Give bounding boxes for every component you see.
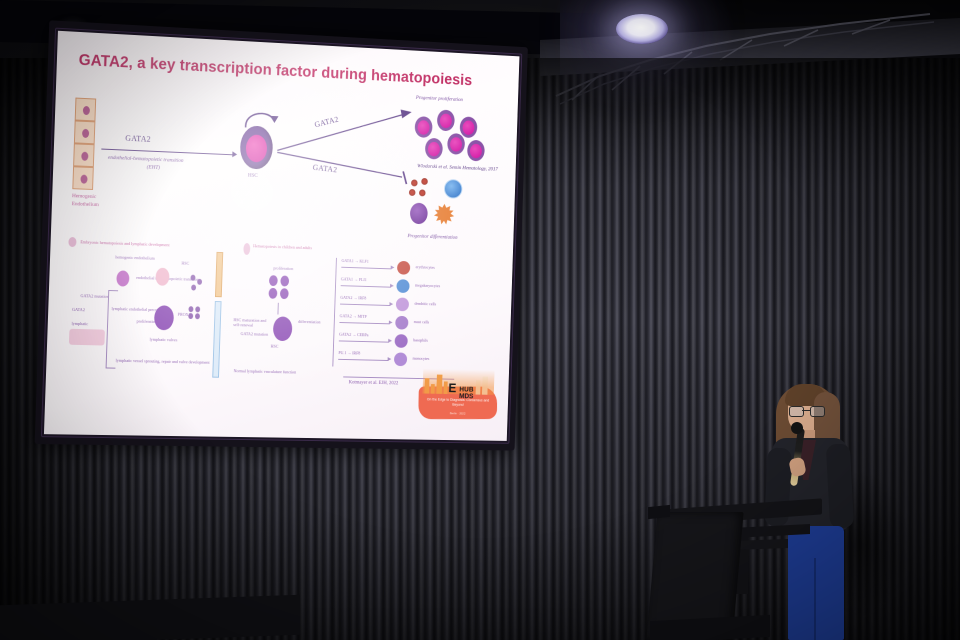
hemogenic-endothelium-cell-icon: [116, 270, 129, 286]
lineage-cell-icon: [394, 352, 407, 366]
lineage-factors: GATA1 → KLF1: [341, 258, 368, 264]
lineage-cell-icon: [395, 316, 408, 330]
progenitor-cell-icon: [460, 116, 478, 138]
lineage-arrow: [339, 340, 389, 342]
lymphatic-vasculature-divider: [212, 301, 221, 378]
progenitor-cell-icon: [437, 109, 455, 131]
eht-caption-line2: (EHT): [147, 164, 160, 170]
erythrocyte-icon: [411, 179, 418, 186]
progenitor-dot-icon: [280, 276, 289, 287]
lineage-factors: GATA2 → CEBPa: [339, 332, 369, 338]
lineage-cell-icon: [395, 334, 408, 348]
endothelium-label-line1: Hemogenic: [72, 193, 96, 200]
hsc-label: HSC: [248, 173, 258, 179]
progenitor-cell-icon: [425, 138, 443, 160]
lineage-arrow-head-icon: [388, 339, 392, 343]
endothelium-label-line2: Endothelium: [72, 201, 99, 208]
lower-left-label: lymphatic vessel sprouting, repair and v…: [116, 358, 223, 366]
lower-left-label: hemogenic endothelium: [115, 254, 155, 260]
progenitor-cell-icon: [414, 116, 432, 138]
lower-left-label: HSC: [181, 261, 189, 266]
lectern-edge: [648, 505, 670, 519]
differentiated-cell-cluster: [408, 177, 510, 235]
progenitor-differentiation-label: Progenitor differentiation: [407, 233, 457, 241]
presentation-scene: GATA2, a key transcription factor during…: [0, 0, 960, 640]
progenitor-dot-icon: [269, 275, 278, 286]
lymphocyte-icon: [444, 179, 463, 199]
erythrocyte-icon: [409, 189, 416, 196]
progenitor-cell-icon: [467, 140, 485, 162]
lineage-arrow: [341, 267, 391, 269]
lower-left-label: GATA2: [72, 307, 85, 313]
lower-right-label: differentiation: [298, 319, 321, 325]
glasses-lens-left: [789, 406, 804, 417]
fetal-hematopoiesis-divider: [215, 252, 223, 297]
lymphatic-precursor-icon: [154, 305, 174, 330]
granulocyte-icon: [434, 203, 455, 225]
lineage-factors: GATA2 → MITF: [340, 313, 367, 319]
glasses-lens-right: [810, 406, 825, 417]
embryo-icon: [68, 237, 76, 247]
speaker-glasses-icon: [789, 406, 823, 415]
lineage-arrow: [339, 322, 389, 324]
lineage-cell-label: mast cells: [414, 319, 429, 324]
lymphatic-vessel-icon: [69, 329, 105, 346]
lower-left-label: lymphatic valves: [150, 337, 178, 343]
lower-right-label: GATA2 mutation: [241, 331, 269, 337]
lower-right-label: Normal lymphatic vasculature function: [233, 368, 337, 375]
lineage-cell-label: megakaryocytes: [415, 283, 440, 289]
logo-letter: E: [448, 382, 456, 395]
lower-right-label: HSC: [271, 344, 279, 349]
glasses-bridge: [802, 410, 810, 411]
eht-arrow-label: GATA2: [125, 134, 151, 144]
progenitor-dot-icon: [280, 288, 289, 299]
projection-screen-frame: GATA2, a key transcription factor during…: [35, 20, 528, 450]
endothelial-cell-icon: [74, 120, 96, 144]
screen-bezel: GATA2, a key transcription factor during…: [41, 28, 522, 444]
endothelial-cell-icon: [73, 143, 95, 167]
lineage-cell-label: basophils: [413, 337, 428, 342]
ceiling-spotlight-icon: [616, 14, 668, 44]
hsc-dot-icon: [197, 279, 202, 285]
cell-dot-icon: [195, 313, 200, 319]
monocyte-icon: [410, 203, 428, 225]
lineage-arrow-head-icon: [389, 302, 393, 306]
progenitor-proliferation-label: Progenitor proliferation: [416, 95, 463, 103]
upper-diagram: Hemogenic Endothelium GATA2 endothelial-…: [51, 75, 518, 249]
hsc-cell-icon: [240, 125, 274, 169]
endothelial-cell-icon: [75, 98, 97, 122]
logo-tagline: On the Edge to Diagnosis: Consensus and …: [426, 398, 490, 408]
lineage-arrow: [338, 359, 388, 361]
progenitor-cell-icon: [447, 133, 465, 155]
hemogenic-endothelium-stack: [72, 98, 96, 190]
lineage-arrow-head-icon: [389, 320, 393, 324]
hsc-dot-icon: [191, 285, 196, 291]
eht-arrow-head-icon: [232, 151, 237, 157]
erythrocyte-icon: [421, 178, 428, 185]
lower-left-label: lymphatic: [72, 321, 89, 327]
lower-left-title: Embryonic hematopoiesis and lymphatic de…: [80, 239, 226, 249]
eht-caption-line1: endothelial-hematopoietic transition: [108, 155, 184, 164]
erythrocyte-icon: [419, 189, 426, 196]
hsc-cell-icon: [273, 316, 293, 341]
lineage-cell-icon: [396, 297, 409, 311]
lower-citation: Kotmayer et al. EJH, 2022: [349, 380, 399, 387]
lineage-cell-icon: [396, 279, 409, 293]
branch-arrows: [270, 99, 423, 206]
lower-right-title: Hematopoiesis in children and adults: [253, 243, 376, 252]
cell-dot-icon: [188, 313, 193, 319]
lower-right-label: HSC maturation and self-renewal: [233, 317, 271, 328]
presentation-slide: GATA2, a key transcription factor during…: [44, 31, 520, 441]
projection-screen-area: GATA2, a key transcription factor during…: [28, 4, 548, 454]
microphone-head-icon: [791, 422, 803, 434]
lineage-cell-label: monocytes: [413, 356, 430, 361]
lineage-arrow-head-icon: [391, 265, 395, 269]
lower-right-label: proliferation: [273, 266, 293, 272]
conference-logo: E HUB MDS On the Edge to Diagnosis: Cons…: [418, 367, 498, 420]
speaker-right-arm: [826, 443, 854, 528]
lineage-factors: GATA1 → FLI1: [341, 276, 367, 282]
lower-left-label: GATA2 mutation: [80, 293, 109, 299]
lineage-cell-label: dendritic cells: [414, 301, 436, 307]
lineage-arrow: [340, 304, 390, 306]
lineage-factors: PU.1 → IRF8: [338, 350, 360, 356]
endothelial-cell-icon: [72, 166, 94, 190]
lineage-factors: GATA2 → IRF8: [340, 295, 366, 301]
eht-arrow-line: [101, 149, 233, 156]
lineage-arrow: [341, 285, 391, 287]
transition-cell-icon: [155, 268, 169, 286]
lineage-cell-label: erythrocytes: [416, 264, 435, 270]
progenitor-dot-icon: [268, 288, 277, 299]
cell-dot-icon: [195, 306, 200, 312]
cell-dot-icon: [188, 306, 193, 312]
lineage-arrow-head-icon: [390, 284, 394, 288]
lineage-cell-icon: [397, 261, 410, 275]
lectern: [648, 500, 828, 640]
child-icon: [243, 243, 250, 255]
lineage-arrow-head-icon: [388, 357, 392, 361]
progenitor-cell-cluster: [410, 106, 508, 166]
